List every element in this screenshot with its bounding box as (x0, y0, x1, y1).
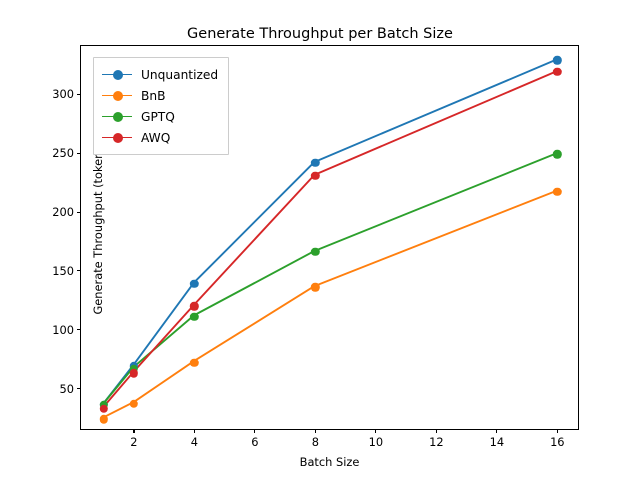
chart-legend: UnquantizedBnBGPTQAWQ (93, 57, 229, 155)
y-tick-mark (77, 329, 81, 330)
x-tick-label: 14 (490, 435, 505, 449)
x-tick-mark (375, 429, 376, 433)
y-tick-mark (77, 153, 81, 154)
x-tick-mark (557, 429, 558, 433)
legend-item-label: GPTQ (141, 110, 175, 124)
legend-item-label: Unquantized (141, 68, 218, 82)
x-axis-label: Batch Size (81, 455, 578, 469)
y-tick-mark (77, 388, 81, 389)
legend-item-unquantized[interactable]: Unquantized (102, 64, 218, 85)
legend-marker-icon (102, 111, 132, 123)
x-tick-label: 12 (429, 435, 444, 449)
x-tick-mark (436, 429, 437, 433)
legend-item-gptq[interactable]: GPTQ (102, 106, 218, 127)
x-tick-mark (254, 429, 255, 433)
series-line-gptq (104, 154, 556, 403)
x-tick-label: 8 (312, 435, 319, 449)
legend-marker-icon (102, 132, 132, 144)
legend-marker-icon (102, 90, 132, 102)
x-tick-mark (315, 429, 316, 433)
x-tick-mark (496, 429, 497, 433)
legend-item-label: AWQ (141, 131, 170, 145)
legend-item-label: BnB (141, 89, 165, 103)
y-tick-mark (77, 270, 81, 271)
x-tick-mark (194, 429, 195, 433)
x-tick-label: 16 (550, 435, 565, 449)
x-tick-label: 6 (251, 435, 258, 449)
series-line-bnb (104, 191, 556, 417)
chart-figure: Generate Throughput per Batch Size Gener… (0, 0, 640, 480)
x-tick-label: 2 (130, 435, 137, 449)
x-tick-label: 4 (191, 435, 198, 449)
legend-item-bnb[interactable]: BnB (102, 85, 218, 106)
x-tick-label: 10 (369, 435, 384, 449)
x-tick-mark (133, 429, 134, 433)
chart-title: Generate Throughput per Batch Size (0, 26, 640, 42)
legend-marker-icon (102, 69, 132, 81)
plot-area: Generate Throughput (tokens/s) Batch Siz… (80, 45, 579, 430)
y-tick-mark (77, 212, 81, 213)
legend-item-awq[interactable]: AWQ (102, 127, 218, 148)
y-tick-mark (77, 94, 81, 95)
